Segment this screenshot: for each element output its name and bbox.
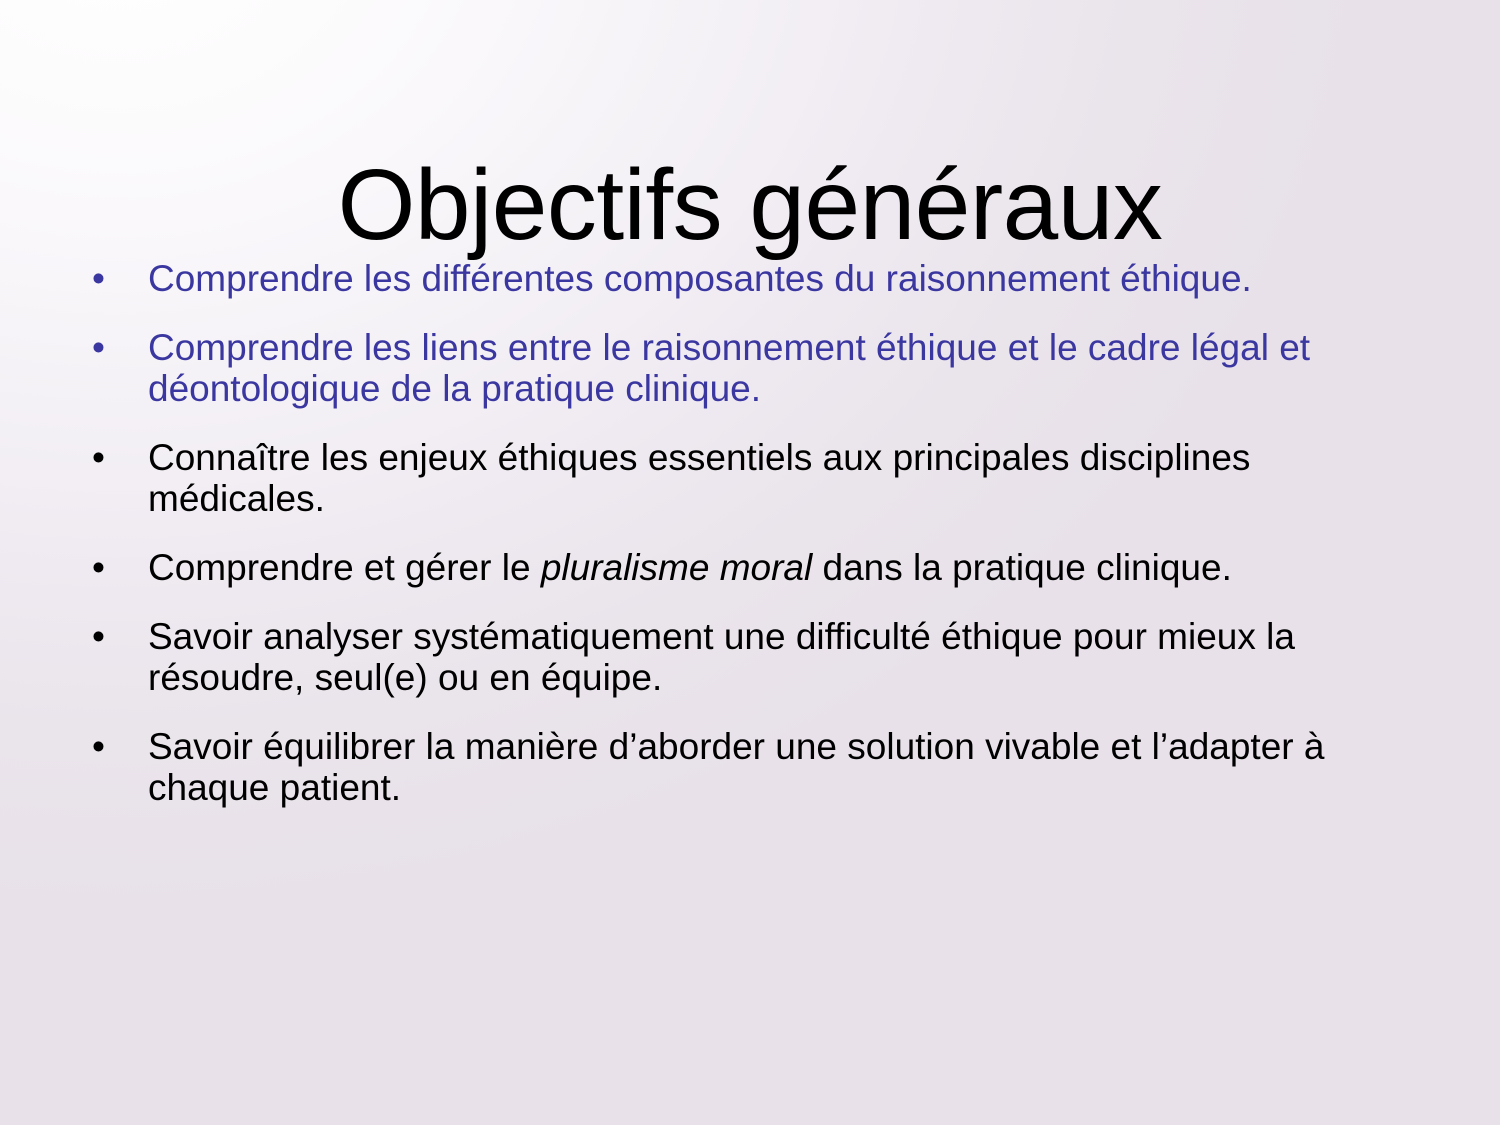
objective-text: Comprendre les liens entre le raisonneme… xyxy=(148,327,1428,409)
bullet-dot-icon: • xyxy=(92,616,112,657)
bullet-dot-icon: • xyxy=(92,547,112,588)
list-item-objective-6: • Savoir équilibrer la manière d’aborder… xyxy=(78,726,1428,808)
objective-text-tail: dans la pratique clinique. xyxy=(812,547,1232,588)
bullet-dot-icon: • xyxy=(92,726,112,767)
list-item-objective-2: • Comprendre les liens entre le raisonne… xyxy=(78,327,1428,409)
objective-text-lead: Comprendre et gérer le xyxy=(148,547,541,588)
bullet-dot-icon: • xyxy=(92,258,112,299)
objectives-list: • Comprendre les différentes composantes… xyxy=(78,258,1428,808)
objective-text: Savoir équilibrer la manière d’aborder u… xyxy=(148,726,1428,808)
bullet-dot-icon: • xyxy=(92,437,112,478)
presentation-slide: Objectifs généraux • Comprendre les diff… xyxy=(0,0,1500,1125)
list-item-objective-5: • Savoir analyser systématiquement une d… xyxy=(78,616,1428,698)
objective-text: Connaître les enjeux éthiques essentiels… xyxy=(148,437,1428,519)
objective-text: Comprendre les différentes composantes d… xyxy=(148,258,1428,299)
bullet-dot-icon: • xyxy=(92,327,112,368)
page-title: Objectifs généraux xyxy=(0,153,1500,257)
objective-text: Savoir analyser systématiquement une dif… xyxy=(148,616,1428,698)
list-item-objective-3: • Connaître les enjeux éthiques essentie… xyxy=(78,437,1428,519)
objective-text-emphasis: pluralisme moral xyxy=(541,547,812,588)
list-item-objective-4: • Comprendre et gérer le pluralisme mora… xyxy=(78,547,1428,588)
list-item-objective-1: • Comprendre les différentes composantes… xyxy=(78,258,1428,299)
objective-text: Comprendre et gérer le pluralisme moral … xyxy=(148,547,1428,588)
